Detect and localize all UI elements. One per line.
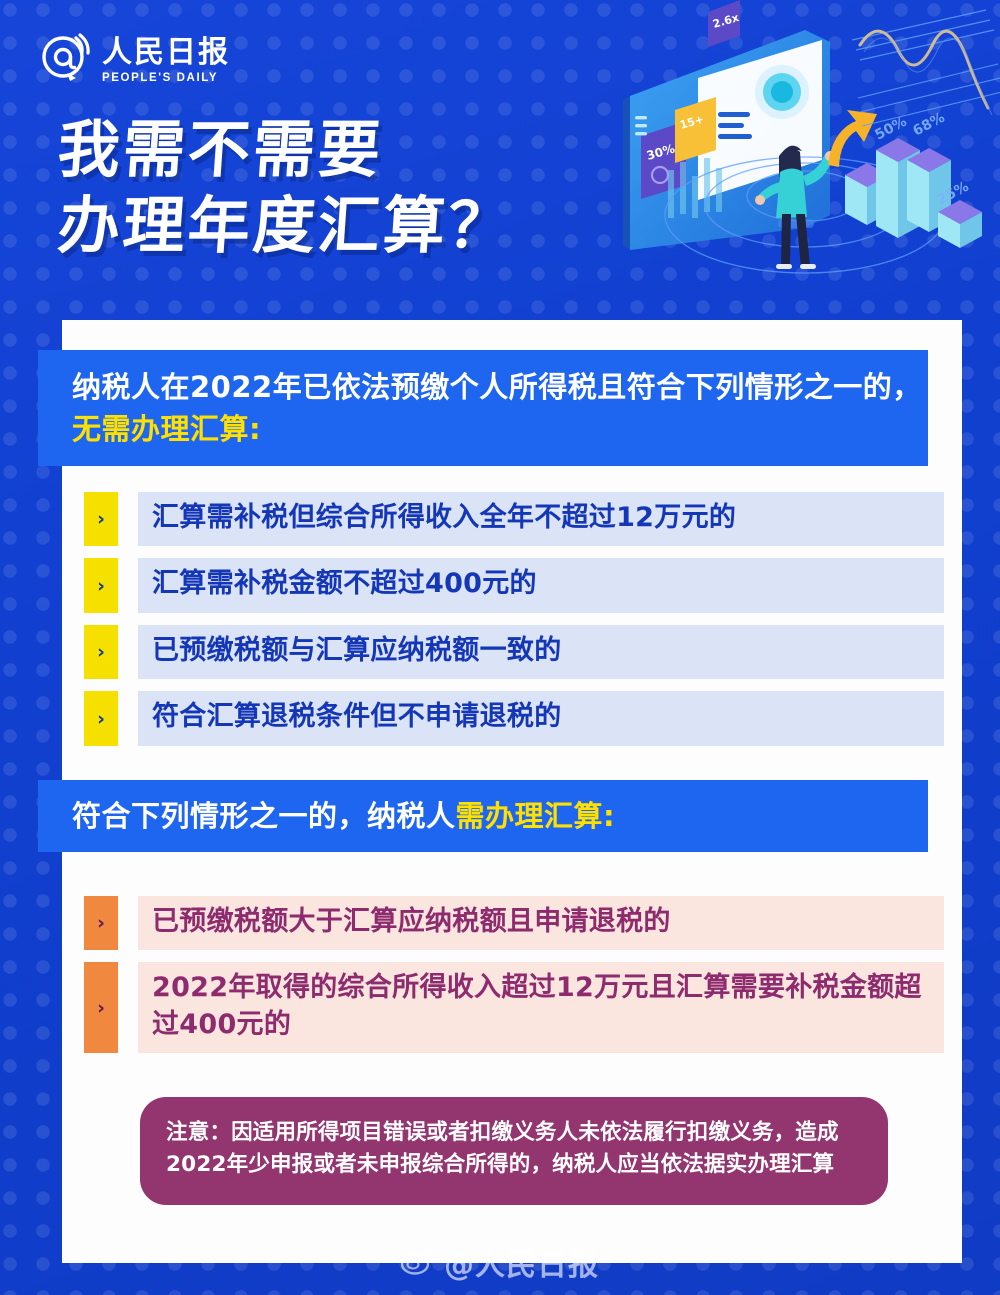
curved-up-arrow-icon bbox=[828, 110, 877, 167]
chevron-right-icon: › bbox=[84, 492, 118, 546]
list-item[interactable]: › 已预缴税额大于汇算应纳税额且申请退税的 bbox=[84, 896, 944, 950]
list-item[interactable]: › 汇算需补税金额不超过400元的 bbox=[84, 558, 944, 612]
list-item[interactable]: › 符合汇算退税条件但不申请退税的 bbox=[84, 691, 944, 745]
title-line-1: 我需不需要 bbox=[55, 112, 680, 188]
chevron-right-icon: › bbox=[84, 558, 118, 612]
at-sound-icon bbox=[40, 32, 94, 86]
watermark-text: @人民日报 bbox=[444, 1240, 599, 1284]
section-no-header-band: 纳税人在2022年已依法预缴个人所得税且符合下列情形之一的，无需办理汇算: bbox=[38, 350, 928, 466]
chevron-right-icon: › bbox=[84, 691, 118, 745]
section-no-header-text: 纳税人在2022年已依法预缴个人所得税且符合下列情形之一的，无需办理汇算: bbox=[38, 366, 928, 450]
note-box: 注意：因适用所得项目错误或者扣缴义务人未依法履行扣缴义务，造成2022年少申报或… bbox=[140, 1097, 888, 1205]
section-yes-header-band: 符合下列情形之一的，纳税人需办理汇算: bbox=[38, 780, 928, 852]
list-item-label: 汇算需补税但综合所得收入全年不超过12万元的 bbox=[138, 492, 944, 546]
section-no-header-highlight: 无需办理汇算: bbox=[72, 412, 261, 446]
brand-name-en: PEOPLE'S DAILY bbox=[102, 73, 230, 85]
svg-text:50%: 50% bbox=[872, 114, 909, 144]
watermark: @人民日报 bbox=[0, 1238, 1000, 1286]
section-yes-header-highlight: 需办理汇算: bbox=[456, 799, 616, 833]
list-item-label: 2022年取得的综合所得收入超过12万元且汇算需要补税金额超过400元的 bbox=[138, 962, 944, 1053]
list-item-label: 已预缴税额大于汇算应纳税额且申请退税的 bbox=[138, 896, 944, 950]
chevron-right-icon: › bbox=[84, 896, 118, 950]
chevron-right-icon: › bbox=[84, 625, 118, 679]
chevron-right-icon: › bbox=[84, 962, 118, 1053]
section-yes-header-text: 符合下列情形之一的，纳税人需办理汇算: bbox=[38, 795, 615, 837]
svg-text:68%: 68% bbox=[910, 110, 947, 140]
brand-name-cn: 人民日报 bbox=[102, 38, 230, 68]
section-no-header-plain: 纳税人在2022年已依法预缴个人所得税且符合下列情形之一的， bbox=[72, 370, 922, 404]
note-text: 注意：因适用所得项目错误或者扣缴义务人未依法履行扣缴义务，造成2022年少申报或… bbox=[166, 1117, 862, 1181]
list-item-label: 汇算需补税金额不超过400元的 bbox=[138, 558, 944, 612]
list-item[interactable]: › 汇算需补税但综合所得收入全年不超过12万元的 bbox=[84, 492, 944, 546]
list-item-label: 符合汇算退税条件但不申请退税的 bbox=[138, 691, 944, 745]
section-yes-list: › 已预缴税额大于汇算应纳税额且申请退税的 › 2022年取得的综合所得收入超过… bbox=[84, 896, 944, 1065]
weibo-icon bbox=[401, 1245, 435, 1280]
list-item-label: 已预缴税额与汇算应纳税额一致的 bbox=[138, 625, 944, 679]
section-no-list: › 汇算需补税但综合所得收入全年不超过12万元的 › 汇算需补税金额不超过400… bbox=[84, 492, 944, 758]
section-yes-header-plain: 符合下列情形之一的，纳税人 bbox=[72, 799, 456, 833]
list-item[interactable]: › 2022年取得的综合所得收入超过12万元且汇算需要补税金额超过400元的 bbox=[84, 962, 944, 1053]
brand-logo: 人民日报 PEOPLE'S DAILY bbox=[40, 32, 230, 86]
list-item[interactable]: › 已预缴税额与汇算应纳税额一致的 bbox=[84, 625, 944, 679]
title-line-2: 办理年度汇算？ bbox=[55, 188, 680, 264]
page-title: 我需不需要 办理年度汇算？ bbox=[58, 112, 678, 263]
